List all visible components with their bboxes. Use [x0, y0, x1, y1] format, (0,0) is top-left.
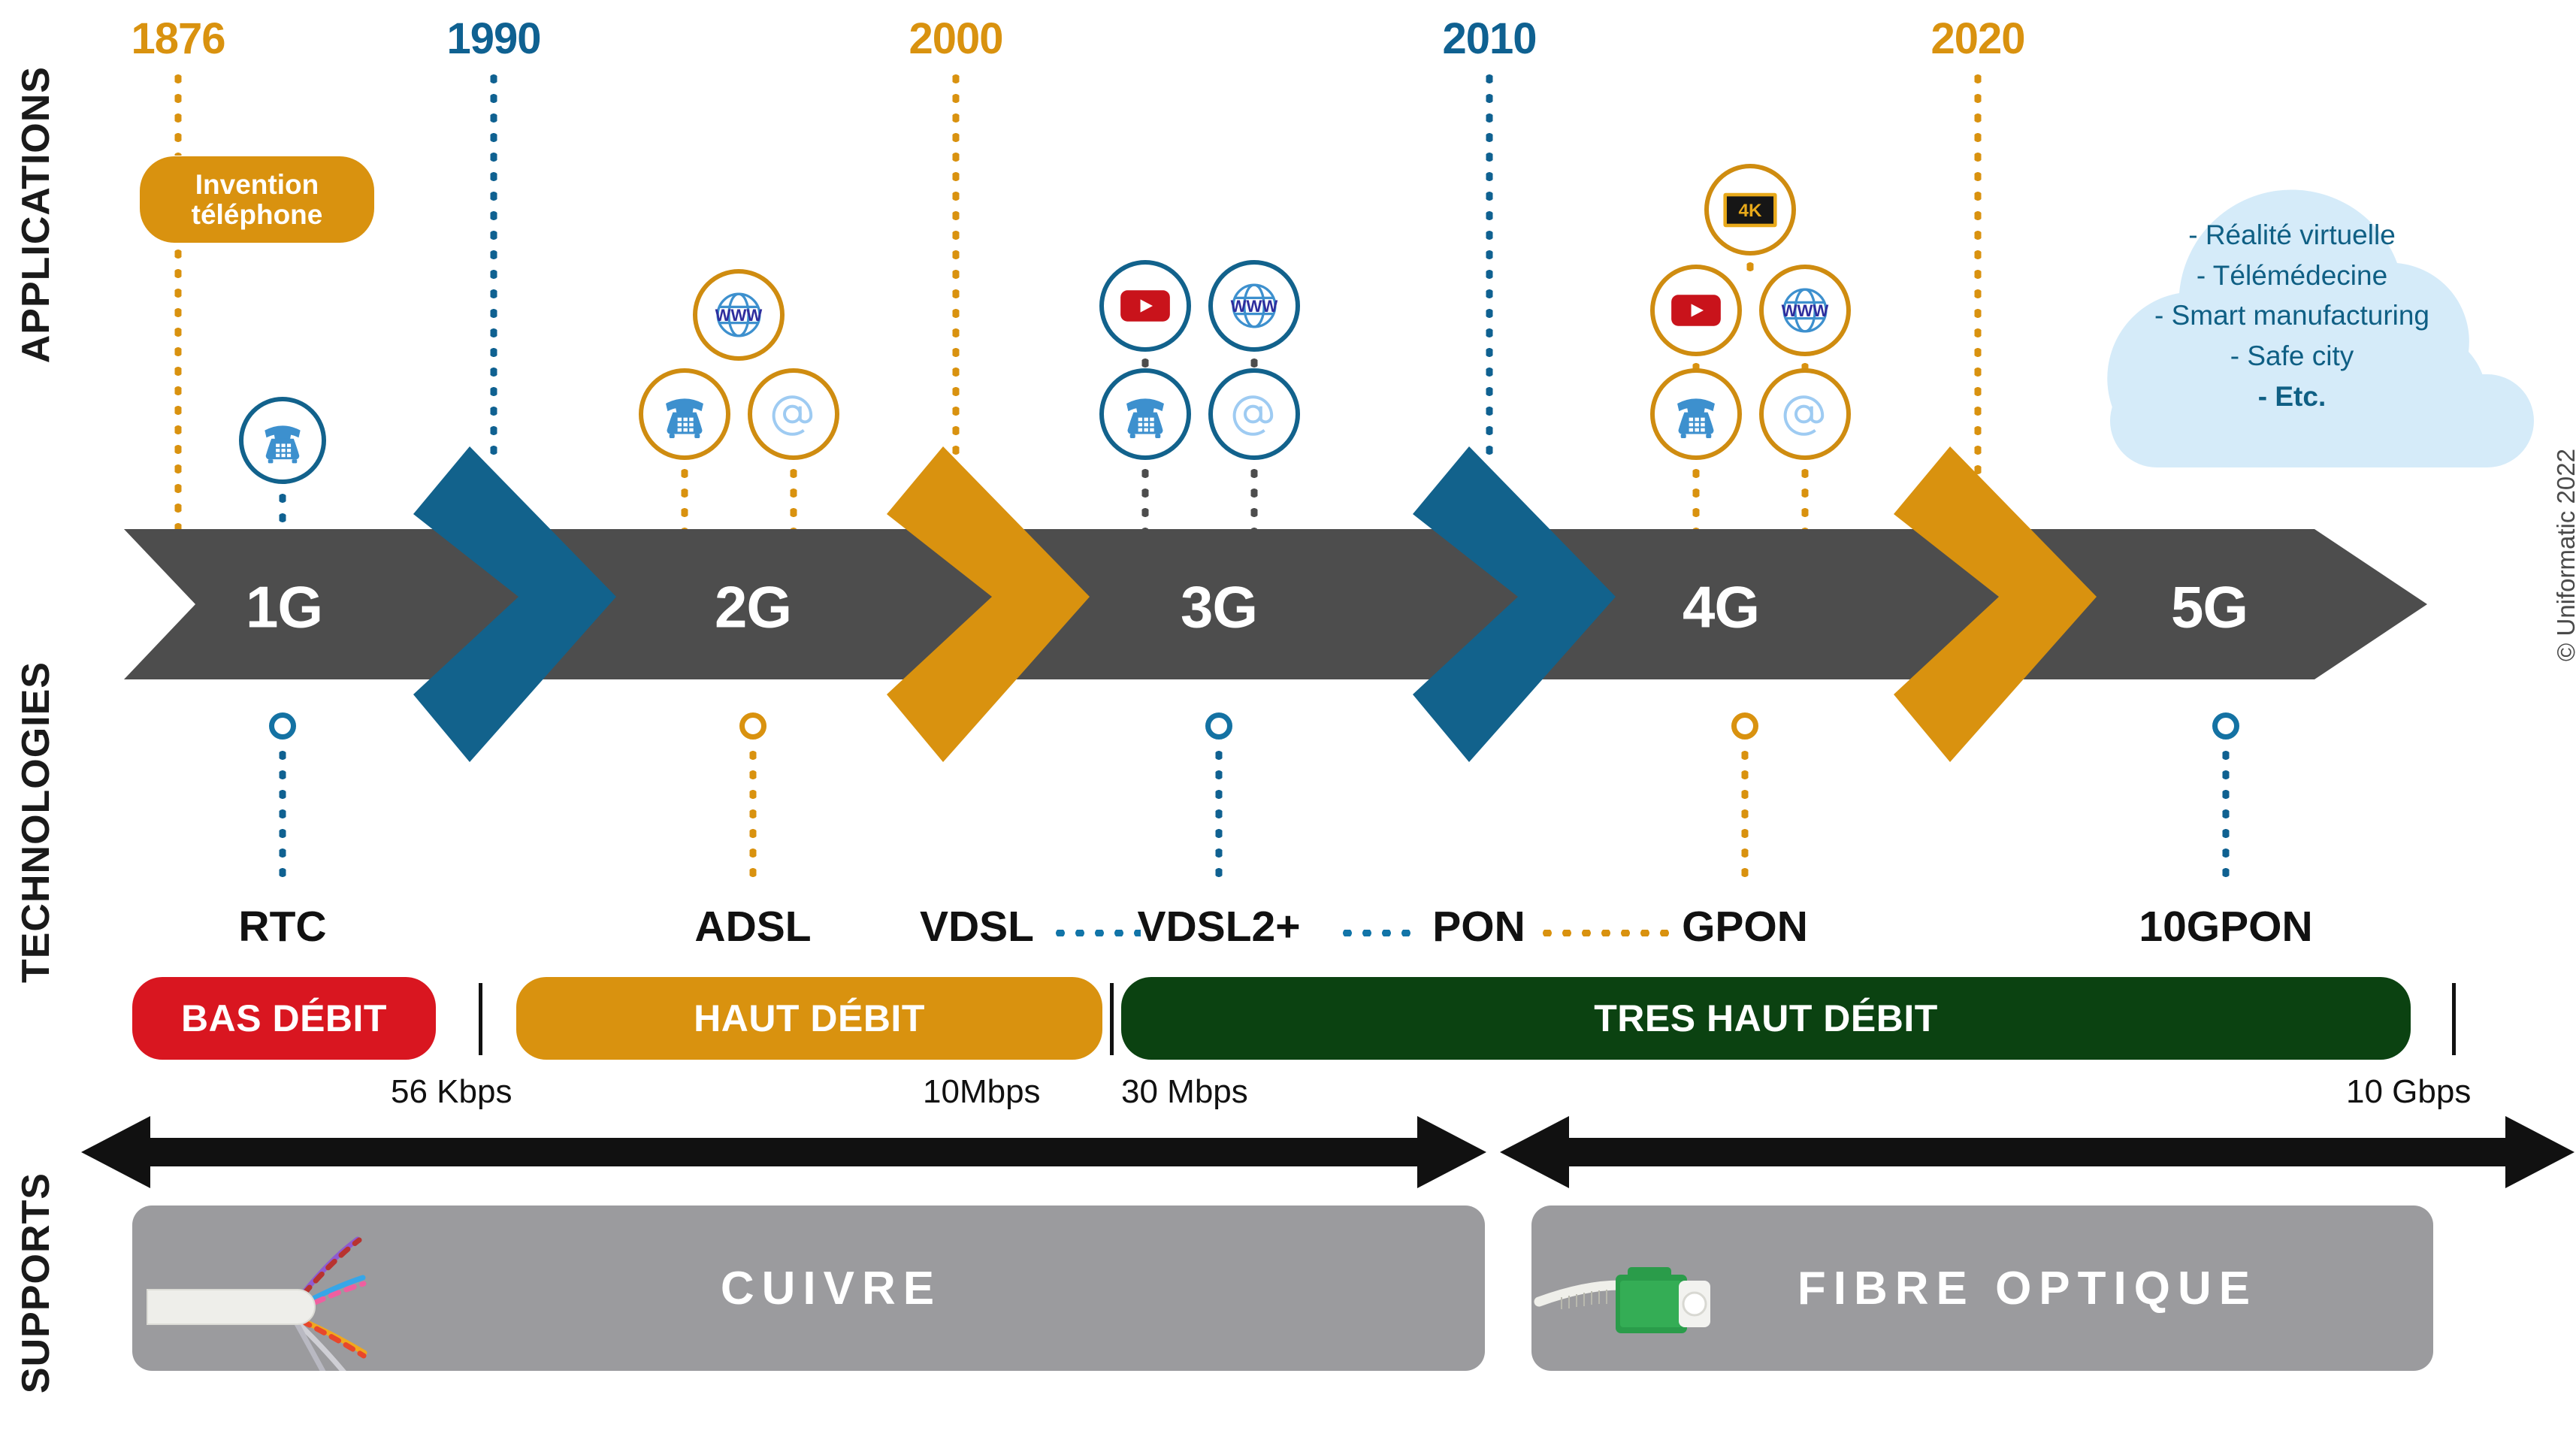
4k-video-icon: 4K: [1722, 190, 1779, 230]
tech-label-rtc: RTC: [238, 902, 326, 951]
svg-text:4K: 4K: [1739, 200, 1762, 220]
fiber-connector-image: [1531, 1205, 1832, 1371]
app-guide-email-2g: [791, 464, 797, 535]
invention-line-2: téléphone: [192, 200, 323, 230]
section-label-applications: APPLICATIONS: [14, 0, 59, 66]
debit-bar-label: HAUT DÉBIT: [694, 997, 925, 1040]
chevron-3g-4g: [1398, 446, 1638, 762]
support-box-fibre-optique: FIBRE OPTIQUE: [1531, 1205, 2433, 1371]
year-guide-2010: [1486, 69, 1493, 460]
at-email-icon: [1775, 384, 1835, 444]
debit-tick-10mbps: [1110, 983, 1114, 1055]
chevron-2g-3g: [872, 446, 1112, 762]
tech-label-pon: PON: [1432, 902, 1525, 951]
app-icon-bubble-video-4g: [1650, 265, 1742, 356]
app-icon-bubble-email-2g: [748, 368, 839, 460]
cloud-5g-applications: - Réalité virtuelle - Télémédecine - Sma…: [2029, 126, 2555, 472]
tech-guide-gpon: [1742, 746, 1749, 881]
app-icon-bubble-email-3g: [1208, 368, 1300, 460]
section-label-supports: SUPPORTS: [14, 894, 59, 1172]
year-label-2000: 2000: [909, 14, 1002, 64]
debit-bar-haut-debit: HAUT DÉBIT: [516, 977, 1102, 1060]
debit-bar-label: BAS DÉBIT: [181, 997, 387, 1040]
tech-label-adsl: ADSL: [694, 902, 811, 951]
app-guide-email-3g: [1251, 464, 1258, 535]
app-icon-bubble-video-3g: [1099, 260, 1191, 352]
phone-icon: [1667, 385, 1725, 443]
tech-guide-vdsl2: [1216, 746, 1223, 881]
www-globe-icon: WWW: [1774, 280, 1836, 341]
app-icon-bubble-phone-2g: [639, 368, 730, 460]
app-icon-bubble-phone-3g: [1099, 368, 1191, 460]
chevron-4g-5g: [1879, 446, 2119, 762]
generation-label-4g: 4G: [1683, 573, 1759, 642]
tech-label-vdsl2: VDSL2+: [1137, 902, 1300, 951]
at-email-icon: [763, 384, 824, 444]
tech-label-vdsl: VDSL: [920, 902, 1034, 951]
tech-guide-rtc: [280, 746, 286, 881]
cloud-item-3: - Safe city: [2029, 336, 2555, 377]
tech-connector-pon-gpon: [1537, 930, 1673, 936]
phone-icon: [1116, 385, 1175, 443]
debit-bar-label: TRES HAUT DÉBIT: [1594, 997, 1938, 1040]
speed-label-10gbps: 10 Gbps: [2346, 1073, 2471, 1111]
range-arrow-copper: [81, 1111, 1486, 1193]
copyright-notice: © Uniformatic 2022: [2552, 449, 2576, 661]
invention-line-1: Invention: [192, 170, 323, 200]
support-label: FIBRE OPTIQUE: [1797, 1262, 2257, 1315]
tech-marker-rtc: [269, 712, 296, 740]
phone-icon: [255, 413, 310, 468]
app-icon-bubble-www-3g: WWW: [1208, 260, 1300, 352]
speed-label-10mbps: 10Mbps: [923, 1073, 1041, 1111]
support-label: CUIVRE: [721, 1262, 942, 1315]
invention-telephone-badge: Invention téléphone: [140, 156, 374, 243]
generation-label-2g: 2G: [715, 573, 791, 642]
year-label-1876: 1876: [131, 14, 225, 64]
app-icon-bubble-4k-4g: 4K: [1704, 164, 1796, 256]
generations-band: 1G 2G 3G 4G 5G: [0, 529, 2480, 679]
tech-guide-adsl: [750, 746, 757, 881]
generation-label-5g: 5G: [2171, 573, 2248, 642]
cloud-item-2: - Smart manufacturing: [2029, 295, 2555, 336]
app-guide-phone-4g: [1693, 464, 1700, 535]
copper-cable-image: [132, 1205, 493, 1371]
speed-label-30mbps: 30 Mbps: [1121, 1073, 1248, 1111]
tech-marker-vdsl2: [1205, 712, 1232, 740]
tech-connector-vdsl-vdsl2: [1051, 930, 1141, 936]
app-guide-phone-2g: [682, 464, 688, 535]
chevron-1g-2g: [398, 446, 639, 762]
tech-label-10gpon: 10GPON: [2139, 902, 2312, 951]
year-guide-1876-top: [175, 69, 182, 156]
debit-tick-56kbps: [479, 983, 482, 1055]
app-guide-phone-1g: [280, 489, 286, 535]
year-guide-1876-bottom: [175, 244, 182, 534]
year-guide-2000: [953, 69, 960, 460]
at-email-icon: [1224, 384, 1284, 444]
generation-label-3g: 3G: [1181, 573, 1257, 642]
infographic-canvas: APPLICATIONS TECHNOLOGIES SUPPORTS 1876 …: [0, 0, 2576, 1449]
app-guide-phone-3g: [1142, 464, 1149, 535]
app-icon-bubble-phone-1g: [239, 397, 326, 484]
tech-marker-gpon: [1731, 712, 1758, 740]
range-arrow-fiber: [1500, 1111, 2574, 1193]
cloud-item-0: - Réalité virtuelle: [2029, 215, 2555, 256]
year-label-1990: 1990: [446, 14, 540, 64]
tech-label-gpon: GPON: [1682, 902, 1808, 951]
tech-marker-10gpon: [2212, 712, 2239, 740]
speed-label-56kbps: 56 Kbps: [391, 1073, 512, 1111]
debit-bar-tres-haut-debit: TRES HAUT DÉBIT: [1121, 977, 2411, 1060]
cloud-item-1: - Télémédecine: [2029, 256, 2555, 296]
youtube-play-icon: [1118, 287, 1172, 325]
www-globe-icon: WWW: [708, 284, 769, 346]
year-guide-1990: [491, 69, 497, 460]
www-globe-icon: WWW: [1223, 275, 1285, 337]
phone-icon: [655, 385, 714, 443]
debit-tick-10gbps: [2452, 983, 2456, 1055]
tech-connector-vdsl2-pon: [1338, 930, 1420, 936]
cloud-item-etc: - Etc.: [2029, 377, 2555, 417]
support-box-cuivre: CUIVRE: [132, 1205, 1485, 1371]
tech-guide-10gpon: [2223, 746, 2230, 881]
app-link-4k-4g: [1747, 257, 1754, 274]
app-icon-bubble-email-4g: [1759, 368, 1851, 460]
year-label-2010: 2010: [1442, 14, 1536, 64]
app-icon-bubble-www-4g: WWW: [1759, 265, 1851, 356]
cloud-text-block: - Réalité virtuelle - Télémédecine - Sma…: [2029, 215, 2555, 416]
app-guide-email-4g: [1802, 464, 1809, 535]
app-icon-bubble-www-2g: WWW: [693, 269, 785, 361]
svg-text:WWW: WWW: [715, 306, 763, 325]
svg-text:WWW: WWW: [1231, 297, 1278, 316]
youtube-play-icon: [1669, 292, 1723, 329]
app-icon-bubble-phone-4g: [1650, 368, 1742, 460]
svg-text:WWW: WWW: [1782, 301, 1829, 320]
generation-label-1g: 1G: [246, 573, 322, 642]
tech-marker-adsl: [739, 712, 766, 740]
year-label-2020: 2020: [1930, 14, 2024, 64]
debit-bar-bas-debit: BAS DÉBIT: [132, 977, 436, 1060]
